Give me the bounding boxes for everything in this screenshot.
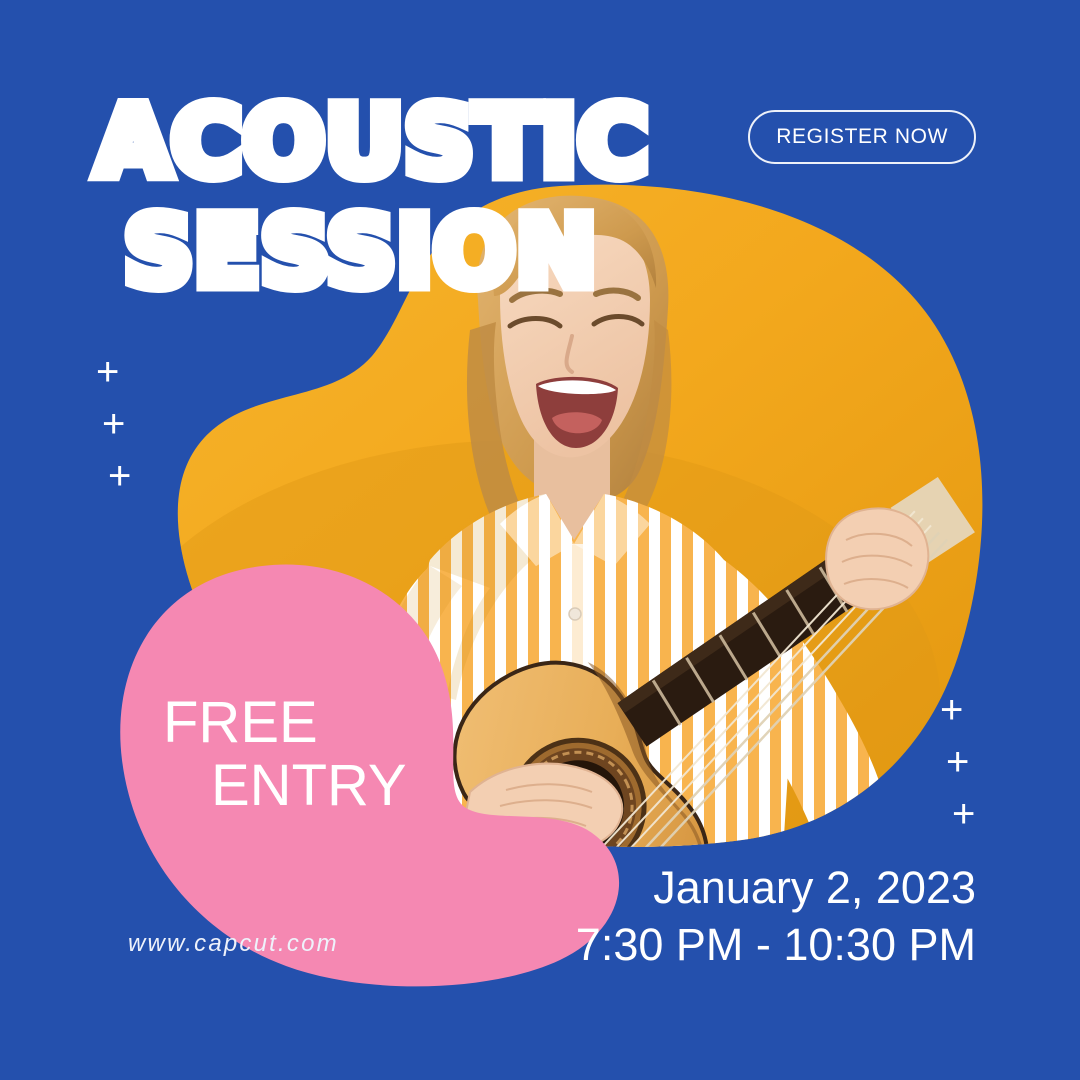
plus-icon: +	[96, 352, 119, 392]
plus-icon: +	[946, 742, 969, 782]
headline-line-1: ACOUSTIC	[96, 98, 649, 186]
free-entry-line-1: FREE	[163, 690, 318, 755]
page-title: ACOUSTIC SESSION	[96, 98, 649, 297]
plus-icon: +	[952, 794, 975, 834]
event-time: 7:30 PM - 10:30 PM	[576, 916, 976, 974]
plus-icon: +	[102, 404, 125, 444]
headline-line-2: SESSION	[124, 208, 649, 296]
event-date: January 2, 2023	[576, 859, 976, 917]
event-info: January 2, 2023 7:30 PM - 10:30 PM	[576, 859, 976, 974]
poster-canvas: ACOUSTIC SESSION REGISTER NOW + + + + + …	[0, 0, 1080, 1080]
plus-icon: +	[940, 690, 963, 730]
free-entry-line-2: ENTRY	[211, 755, 407, 818]
website-url[interactable]: www.capcut.com	[128, 930, 339, 958]
register-now-button[interactable]: REGISTER NOW	[748, 110, 976, 164]
plus-icon: +	[108, 456, 131, 496]
fretting-hand	[826, 508, 928, 609]
free-entry-badge: FREE ENTRY	[163, 692, 407, 817]
